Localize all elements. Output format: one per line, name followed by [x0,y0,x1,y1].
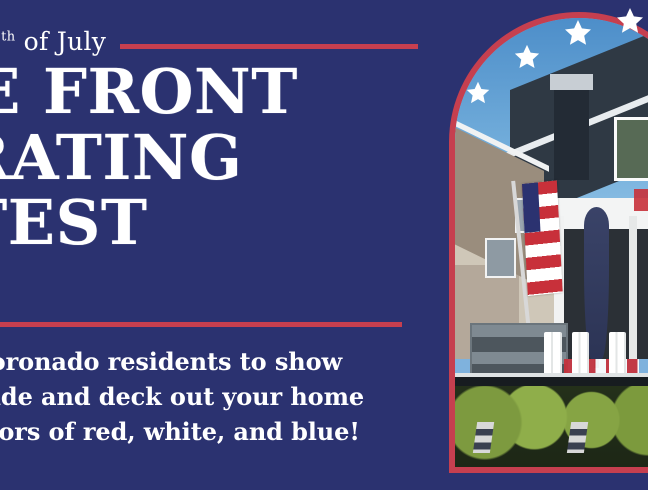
photo-chimney-cap [550,74,592,90]
eyebrow-suffix: of July [15,27,106,56]
photo-chimney [554,81,589,180]
headline-line-1: ME FRONT [0,62,464,122]
star-icon [563,18,593,48]
top-accent-rule [120,44,418,49]
photo-upper-window [614,117,648,181]
eyebrow-ordinal-suffix: th [1,29,15,44]
photo-porch-column-mid [629,216,638,360]
body-line-2: otic pride and deck out your home [0,380,464,415]
headline-line-3: NTEST [0,193,464,253]
poster-body-copy: g all Coronado residents to show otic pr… [0,345,464,449]
star-icon [615,6,645,36]
poster-text-column: nnual 4th of July ME FRONT ORATING NTEST… [0,0,424,490]
body-line-1: g all Coronado residents to show [0,345,464,380]
page-title: ME FRONT ORATING NTEST [0,62,464,259]
photo-patriotic-bunting [634,189,648,211]
eyebrow-text: nnual 4th of July [0,29,106,54]
photo-side-window-lower [485,238,516,278]
bottom-accent-rule [0,322,402,327]
star-icon [513,43,541,71]
eyebrow-row: nnual 4th of July [0,24,424,58]
headline-line-2: ORATING [0,128,464,188]
body-line-3: ous colors of red, white, and blue! [0,415,464,450]
star-icon [465,80,491,106]
photo-american-flag-canton [522,182,541,233]
event-poster: nnual 4th of July ME FRONT ORATING NTEST… [0,0,648,490]
